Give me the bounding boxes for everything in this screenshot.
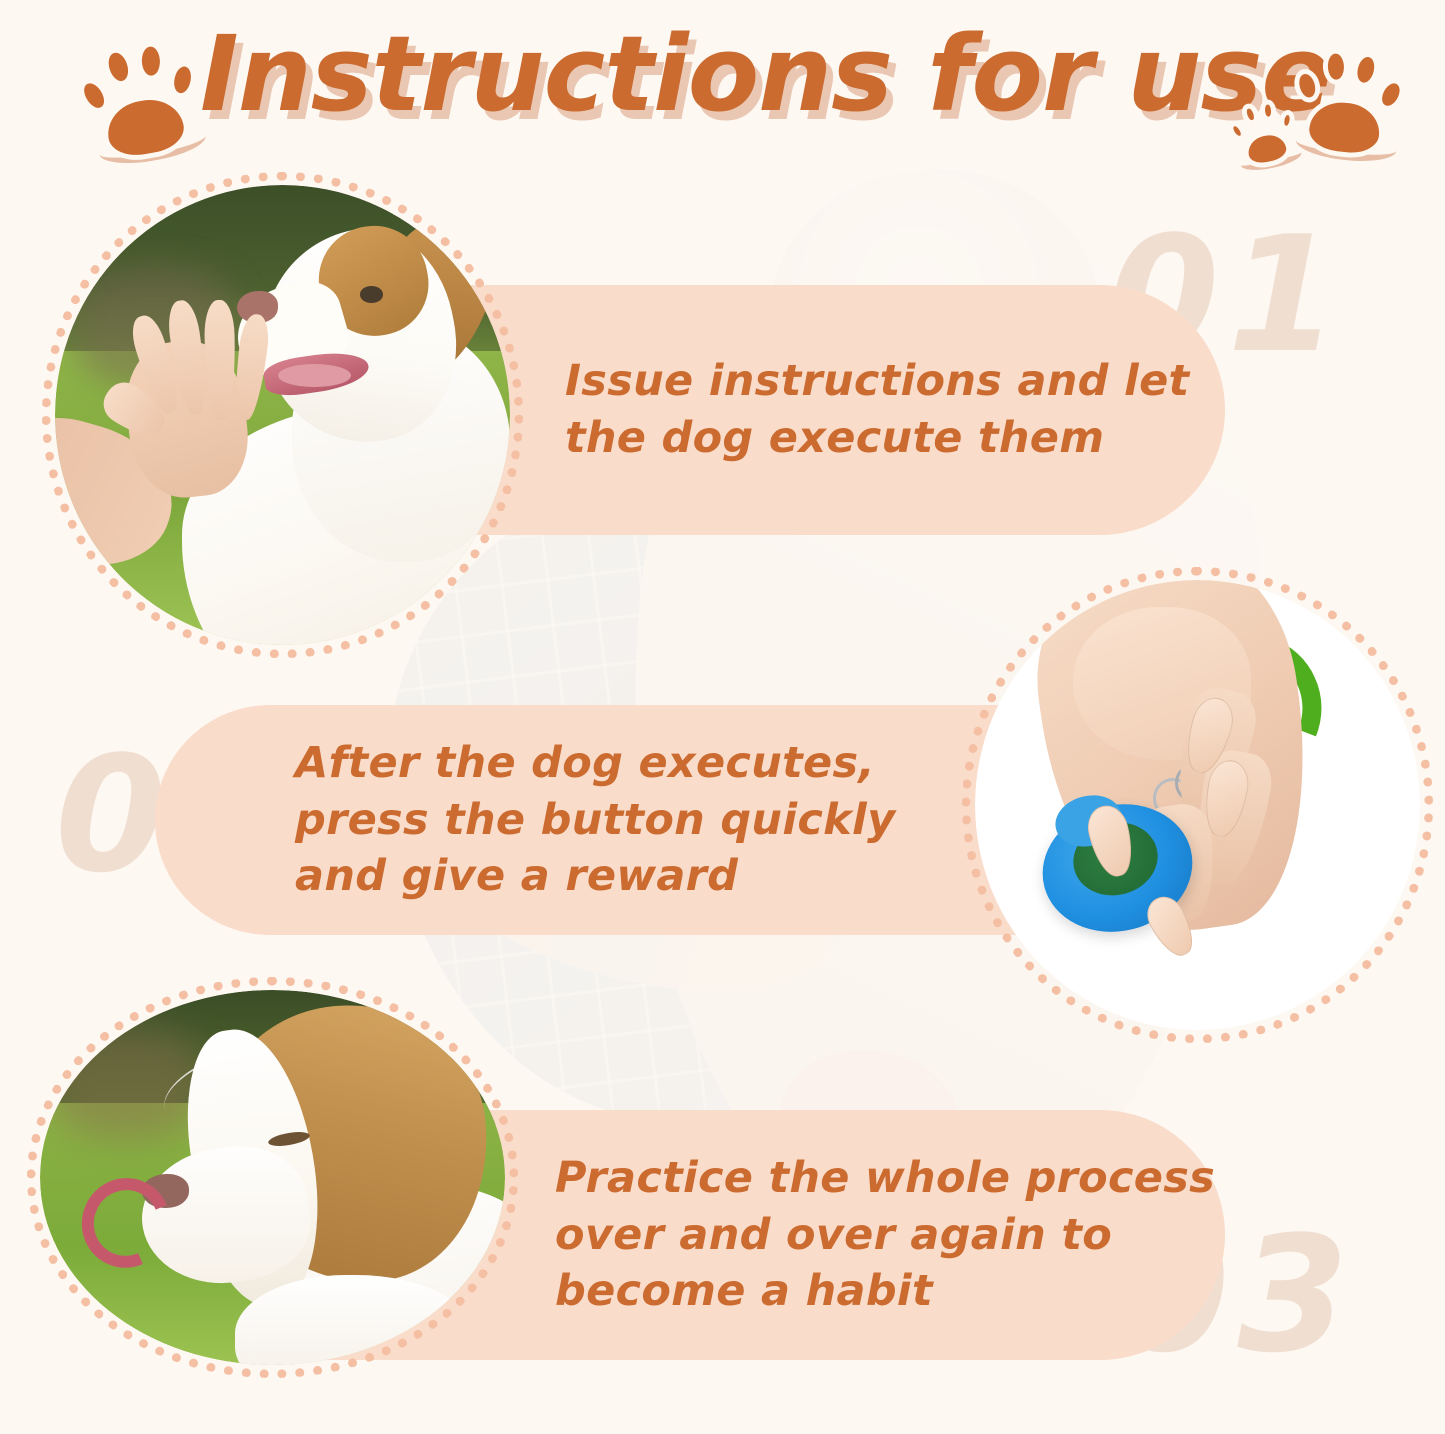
step-2-text: After the dog executes, press the button… [295,735,895,905]
header: Instructions for use [0,0,1445,190]
step-3-photo-ring [40,990,505,1365]
step-1-photo-ring [55,185,510,645]
step-3-text: Practice the whole process over and over… [555,1150,1215,1320]
instructions-infographic: Instructions for use 01 02 03 Issue inst… [0,0,1445,1434]
paw-print-icon [68,32,213,174]
paw-print-icon [1282,42,1411,168]
step-1-text: Issue instructions and let the dog execu… [565,353,1189,467]
page-title: Instructions for use [200,22,1260,126]
step-2-photo-ring [975,580,1420,1030]
